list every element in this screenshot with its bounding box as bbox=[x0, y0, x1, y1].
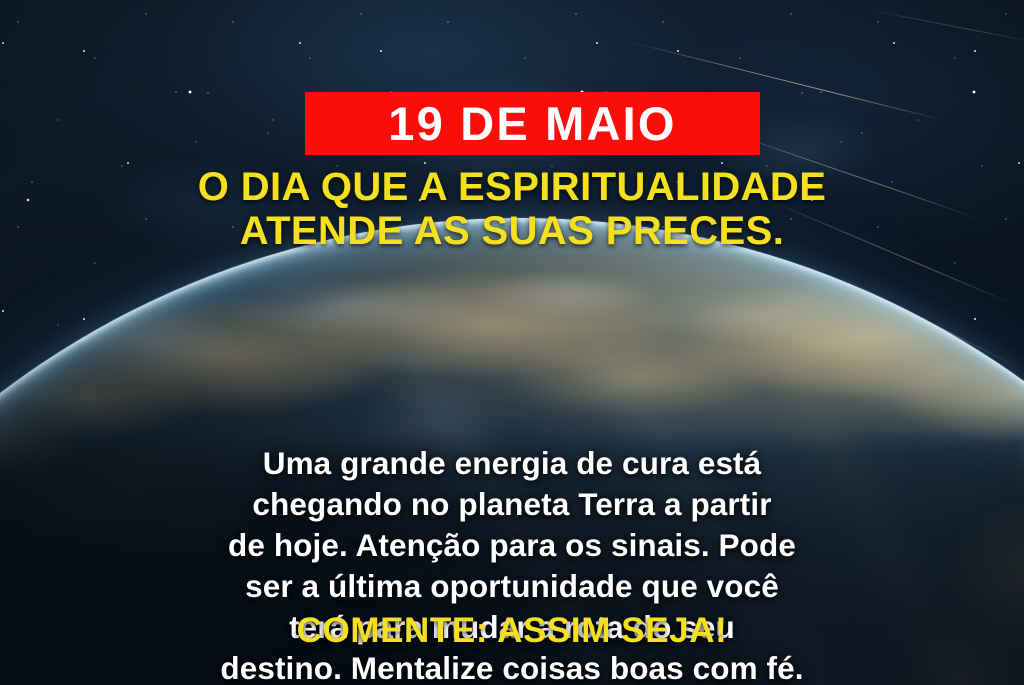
headline-line-2: ATENDE AS SUAS PRECES. bbox=[62, 210, 962, 254]
body-line-6: destino. Mentalize coisas boas com fé. bbox=[42, 648, 982, 685]
headline: O DIA QUE A ESPIRITUALIDADE ATENDE AS SU… bbox=[62, 166, 962, 253]
body-line-3: de hoje. Atenção para os sinais. Pode bbox=[42, 525, 982, 566]
headline-line-1: O DIA QUE A ESPIRITUALIDADE bbox=[62, 166, 962, 210]
poster-canvas: 19 DE MAIO O DIA QUE A ESPIRITUALIDADE A… bbox=[0, 0, 1024, 685]
call-to-action-label: COMENTE: ASSIM SEJA! bbox=[297, 611, 728, 651]
body-line-2: chegando no planeta Terra a partir bbox=[42, 484, 982, 525]
body-line-4: ser a última oportunidade que você bbox=[42, 566, 982, 607]
body-line-1: Uma grande energia de cura está bbox=[42, 443, 982, 484]
date-banner: 19 DE MAIO bbox=[305, 92, 760, 155]
text-layer: 19 DE MAIO O DIA QUE A ESPIRITUALIDADE A… bbox=[0, 0, 1024, 685]
date-banner-label: 19 DE MAIO bbox=[388, 100, 676, 147]
